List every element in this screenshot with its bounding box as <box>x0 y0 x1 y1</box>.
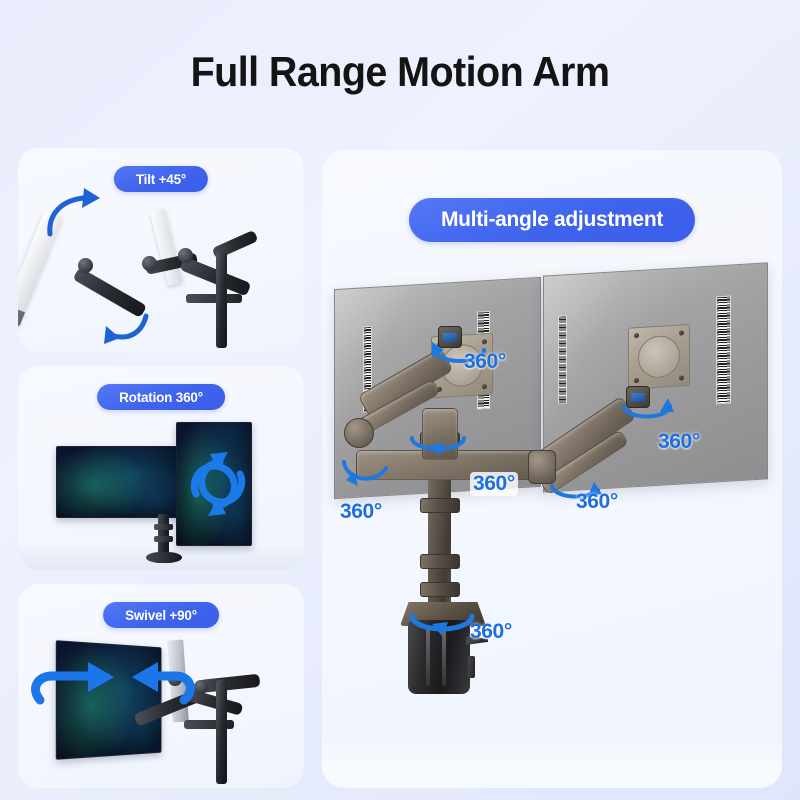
page-title: Full Range Motion Arm <box>24 48 776 96</box>
rotation-arrow-icon-right-mon <box>620 390 676 432</box>
degree-label-left-arm: 360° <box>340 500 382 524</box>
pole-collar <box>420 582 460 597</box>
rotation-arrow-icon-left-joint <box>338 454 392 498</box>
monitor-landscape <box>56 446 182 518</box>
rotation-illustration <box>18 366 304 570</box>
feature-card-tilt: Tilt +45° <box>18 148 304 352</box>
feature-card-rotation: Rotation 360° <box>18 366 304 570</box>
main-feature-card: Multi-angle adjustment <box>322 150 782 788</box>
barcode-label <box>716 296 731 405</box>
desk-clamp-base <box>146 552 182 563</box>
dual-monitor-mount-illustration: 360° 360° 360° 360° 360° 360° <box>322 150 782 788</box>
floor-gradient <box>322 736 782 788</box>
vesa-mounting-plate <box>628 324 690 390</box>
feature-card-swivel: Swivel +90° <box>18 584 304 788</box>
curved-arrow-down-icon <box>18 148 304 352</box>
pole-collar <box>420 498 460 513</box>
degree-label-crossbar: 360° <box>470 472 518 496</box>
degree-label-top-left: 360° <box>464 350 506 374</box>
circular-rotation-arrow-icon <box>182 448 254 520</box>
arrow-left-icon <box>18 584 304 788</box>
degree-label-pole: 360° <box>470 620 512 644</box>
infographic-page: Full Range Motion Arm Tilt +45° <box>0 0 800 800</box>
degree-label-right-monitor: 360° <box>658 430 700 454</box>
rotation-arrow-icon-crossbar <box>408 426 472 464</box>
swivel-illustration <box>18 584 304 788</box>
tilt-illustration <box>18 148 304 352</box>
pole-collar <box>154 524 173 530</box>
pole-collar <box>154 536 173 542</box>
clamp-screw-stub <box>468 656 475 678</box>
barcode-label <box>558 315 567 404</box>
degree-label-right-joint: 360° <box>576 490 618 514</box>
arm-joint-left <box>344 418 374 448</box>
pole-collar <box>420 554 460 569</box>
